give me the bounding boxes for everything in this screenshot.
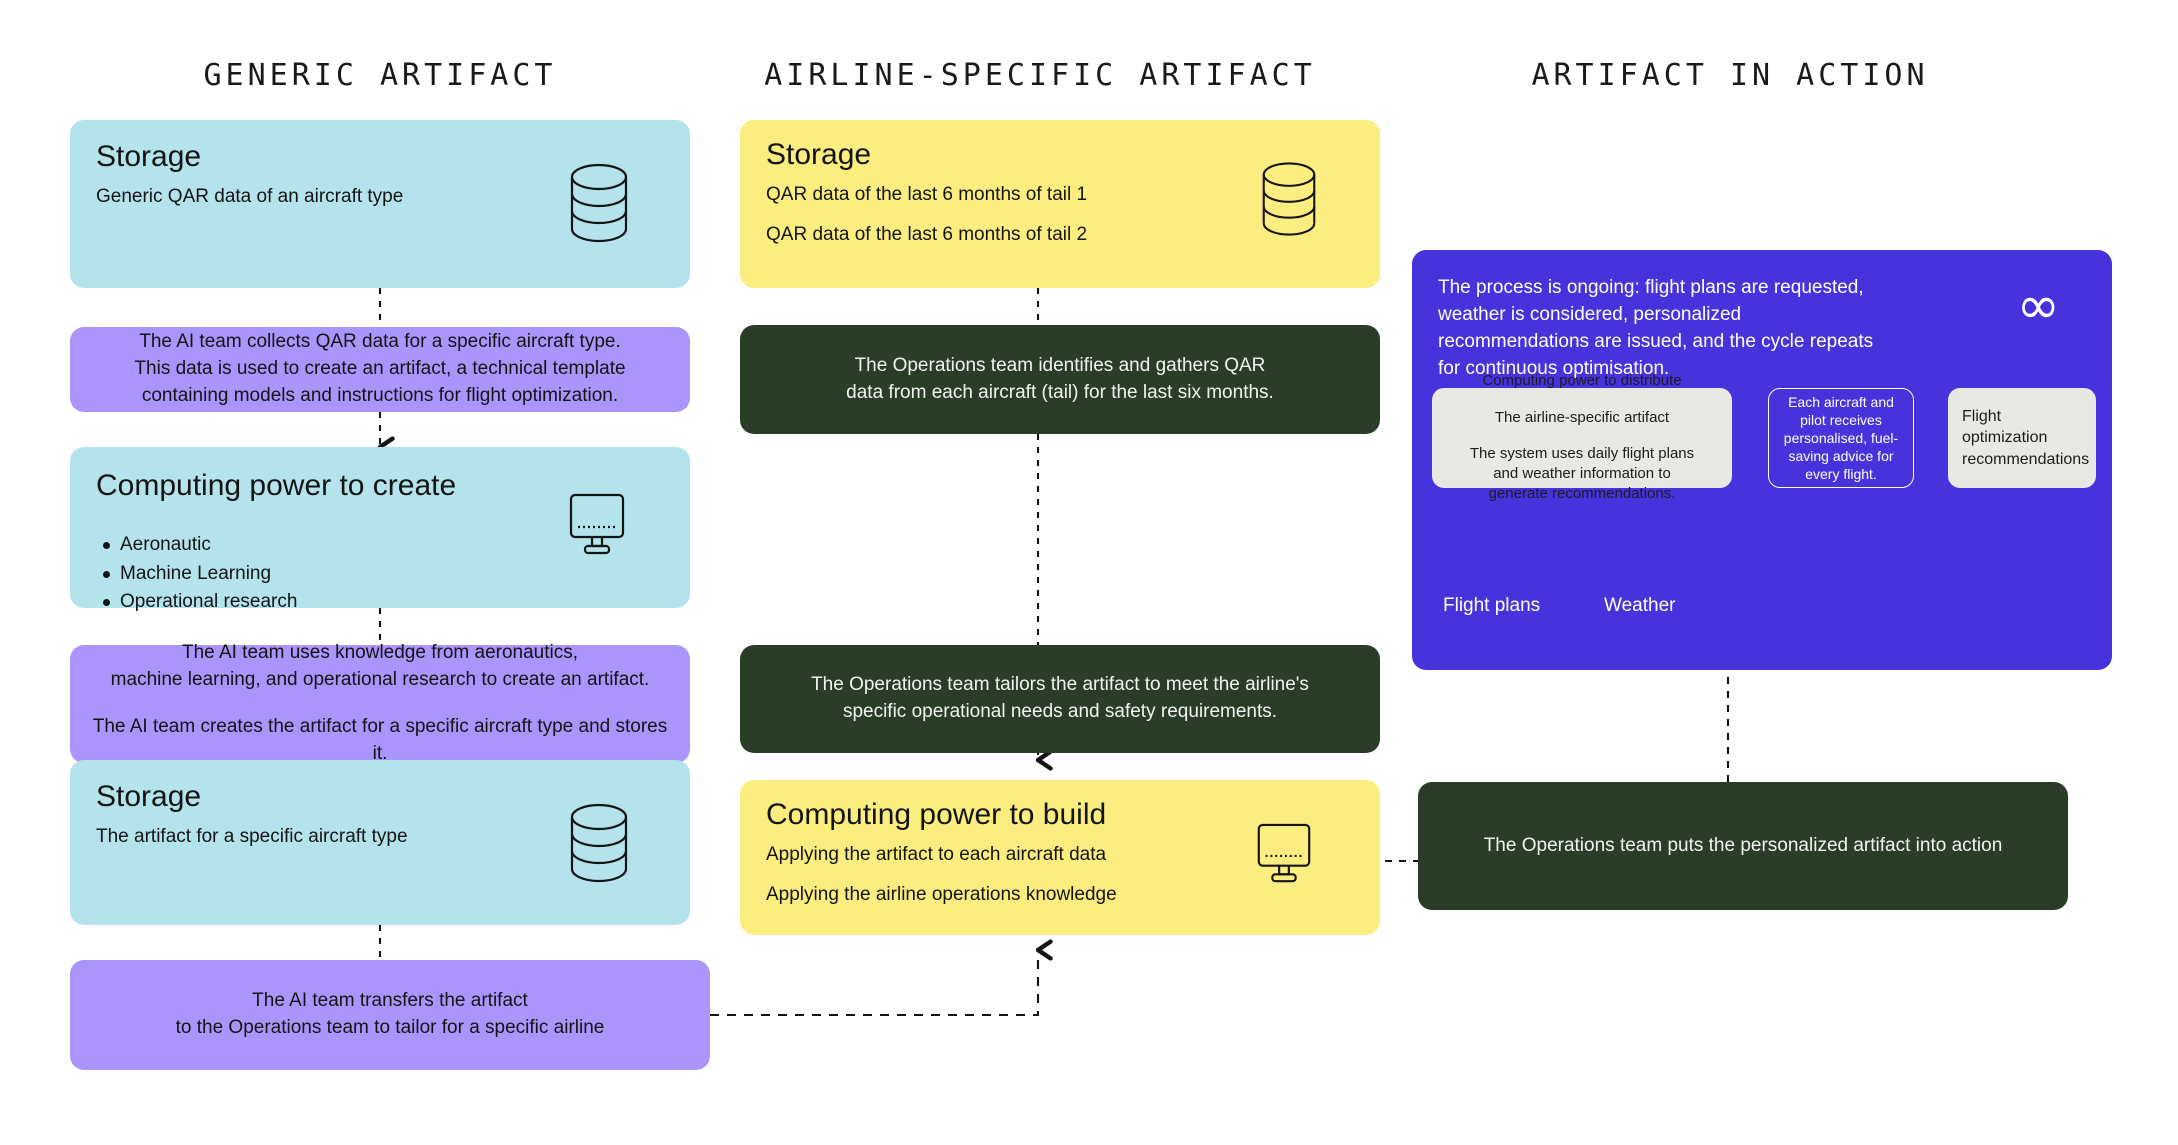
card-title: Storage: [96, 780, 201, 813]
card-text: Each aircraft and pilot receives persona…: [1777, 393, 1905, 484]
card-title: Computing power to build: [766, 798, 1106, 831]
card-title: Storage: [766, 138, 871, 171]
column-title-action: ARTIFACT IN ACTION: [1420, 58, 2040, 93]
card-compute-create[interactable]: Computing power to create Aeronautic Mac…: [70, 447, 690, 608]
card-subtitle: The artifact for a specific aircraft typ…: [96, 824, 408, 850]
card-line-2: The airline-specific artifact: [1495, 408, 1669, 428]
card-title: Storage: [96, 140, 201, 173]
note-paragraph: The AI team uses knowledge from aeronaut…: [111, 640, 650, 694]
list-item: Operational research: [96, 588, 297, 617]
note-ops-puts-into-action[interactable]: The Operations team puts the personalize…: [1418, 782, 2068, 910]
column-title-generic: GENERIC ARTIFACT: [70, 58, 690, 93]
note-ops-tailors[interactable]: The Operations team tailors the artifact…: [740, 645, 1380, 753]
card-storage-generic[interactable]: Storage Generic QAR data of an aircraft …: [70, 120, 690, 288]
card-text: Flight optimization recommendations: [1962, 406, 2089, 471]
list-item: Aeronautic: [96, 531, 297, 560]
monitor-icon: [1250, 822, 1318, 891]
note-ai-transfers[interactable]: The AI team transfers the artifact to th…: [70, 960, 710, 1070]
note-text: The AI team uses knowledge from aeronaut…: [70, 645, 690, 763]
note-text: The Operations team puts the personalize…: [1418, 782, 2068, 910]
card-subtitle: Generic QAR data of an aircraft type: [96, 184, 403, 210]
monitor-icon: [562, 492, 632, 563]
note-text: The Operations team identifies and gathe…: [740, 325, 1380, 434]
card-subtitle-apply-knowledge: Applying the airline operations knowledg…: [766, 882, 1117, 908]
label-weather: Weather: [1604, 595, 1675, 617]
note-text: The AI team transfers the artifact to th…: [70, 960, 710, 1070]
note-ai-uses-knowledge[interactable]: The AI team uses knowledge from aeronaut…: [70, 645, 690, 763]
card-personalised-advice[interactable]: Each aircraft and pilot receives persona…: [1768, 388, 1914, 488]
card-flight-optimization-recommendations[interactable]: Flight optimization recommendations: [1948, 388, 2096, 488]
card-computing-power-to-distribute[interactable]: Computing power to distribute The airlin…: [1432, 388, 1732, 488]
note-text: The AI team collects QAR data for a spec…: [70, 327, 690, 412]
database-icon: [1260, 160, 1318, 243]
card-compute-build[interactable]: Computing power to build Applying the ar…: [740, 780, 1380, 935]
diagram-canvas: GENERIC ARTIFACT AIRLINE-SPECIFIC ARTIFA…: [0, 0, 2178, 1145]
card-storage-artifact[interactable]: Storage The artifact for a specific airc…: [70, 760, 690, 925]
database-icon: [568, 802, 630, 889]
column-title-airline: AIRLINE-SPECIFIC ARTIFACT: [730, 58, 1350, 93]
card-title: Computing power to create: [96, 469, 456, 502]
bullet-list: Aeronautic Machine Learning Operational …: [96, 531, 297, 617]
label-flight-plans: Flight plans: [1443, 595, 1540, 617]
card-subtitle-tail1: QAR data of the last 6 months of tail 1: [766, 182, 1087, 208]
note-text: The Operations team tailors the artifact…: [740, 645, 1380, 753]
note-ops-identifies[interactable]: The Operations team identifies and gathe…: [740, 325, 1380, 434]
note-ai-collects[interactable]: The AI team collects QAR data for a spec…: [70, 327, 690, 412]
card-subtitle-tail2: QAR data of the last 6 months of tail 2: [766, 222, 1087, 248]
card-line-1: Computing power to distribute: [1482, 371, 1681, 391]
card-storage-airline[interactable]: Storage QAR data of the last 6 months of…: [740, 120, 1380, 288]
database-icon: [568, 162, 630, 249]
list-item: Machine Learning: [96, 560, 297, 589]
infinity-icon: ∞: [2017, 280, 2060, 332]
card-subtitle-apply-artifact: Applying the artifact to each aircraft d…: [766, 842, 1106, 868]
card-line-3: The system uses daily flight plans and w…: [1470, 444, 1694, 505]
panel-intro-text: The process is ongoing: flight plans are…: [1438, 275, 1938, 383]
